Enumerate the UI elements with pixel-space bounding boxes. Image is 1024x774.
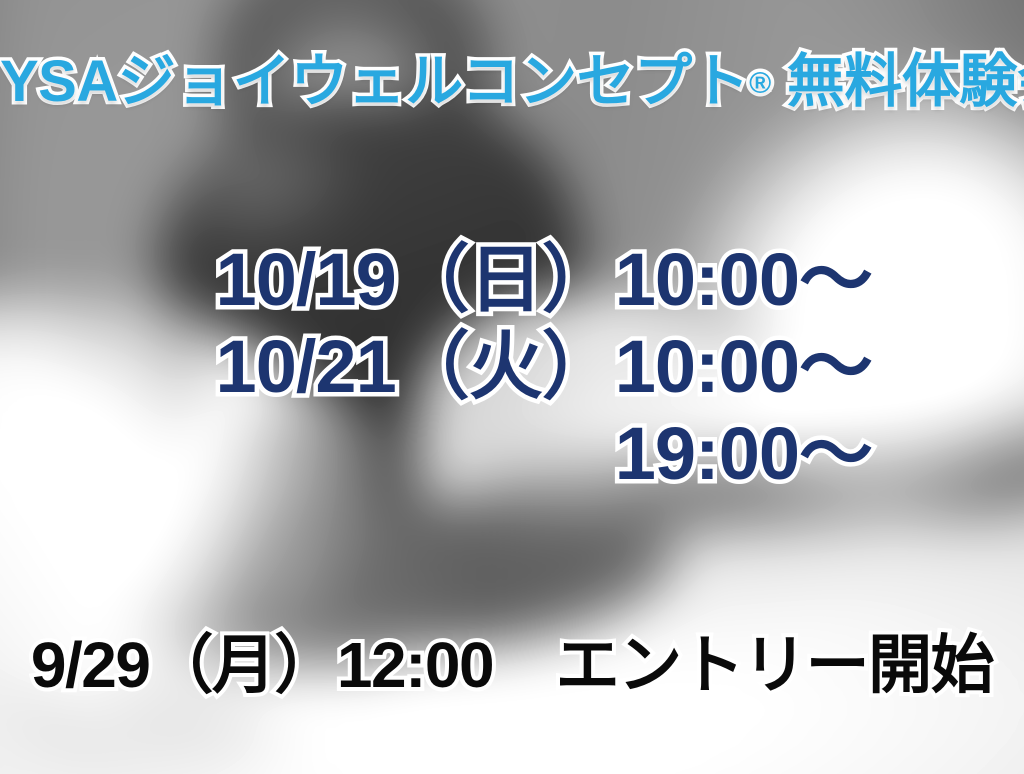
headline-brand: YSAジョイウェルコンセプト: [0, 49, 749, 114]
schedule-line-1: 10/19（日）10:00〜: [0, 236, 872, 323]
headline-suffix: 無料体験会: [787, 49, 1024, 114]
schedule-line-2: 10/21（火）10:00〜: [0, 323, 872, 410]
poster-headline: YSAジョイウェルコンセプト® 無料体験会: [0, 52, 1024, 113]
entry-start-notice: 9/29（月）12:00 エントリー開始: [0, 632, 1024, 699]
schedule-line-3: 19:00〜: [0, 410, 872, 497]
event-poster: YSAジョイウェルコンセプト® 無料体験会 10/19（日）10:00〜 10/…: [0, 0, 1024, 774]
poster-content: YSAジョイウェルコンセプト® 無料体験会 10/19（日）10:00〜 10/…: [0, 0, 1024, 774]
registered-trademark-icon: ®: [749, 67, 771, 100]
schedule-list: 10/19（日）10:00〜 10/21（火）10:00〜 19:00〜: [0, 236, 872, 497]
